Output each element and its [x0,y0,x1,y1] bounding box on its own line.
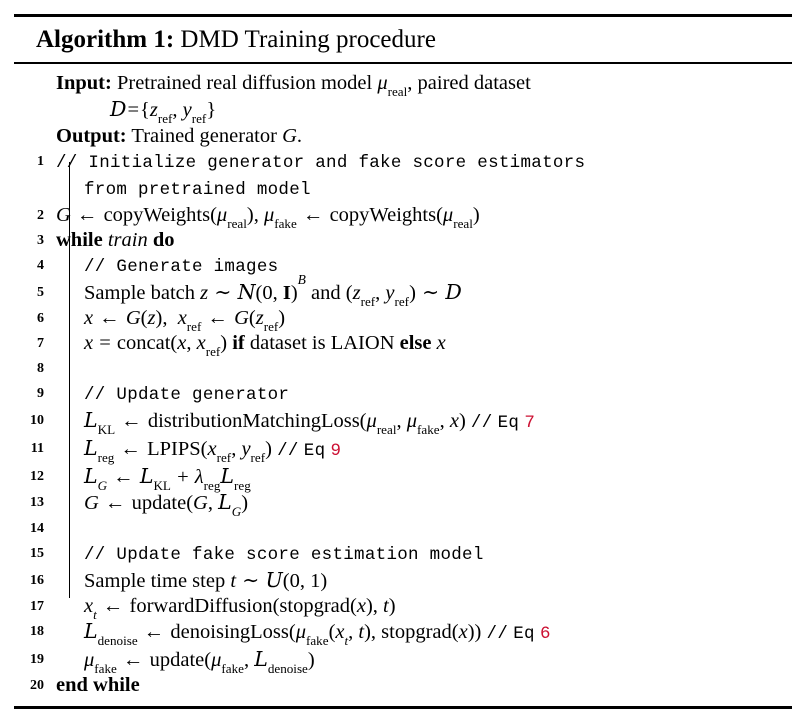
line-number: 16 [14,568,44,594]
comment-text: // Update fake score estimation model [84,545,484,565]
line-number: 14 [14,516,44,542]
eq-label: Eq [304,441,326,461]
line-content: x = concat(x, xref) if dataset is LAION … [56,331,792,356]
algorithm-body: Input: Pretrained real diffusion model μ… [14,64,792,706]
condition-text: dataset is [250,332,326,354]
comment-text: from pretrained model [84,180,311,200]
input-label: Input: [56,72,112,94]
algorithm-line-5: 5 Sample batch z ∼ N(0, I)B and (zref, y… [14,280,792,306]
eq-label: Eq [498,413,520,433]
keyword-if: if [232,332,245,354]
algorithm-line-1-continuation: from pretrained model [14,176,792,203]
line-number: 6 [14,306,44,332]
line-number: 12 [14,464,44,490]
line-content: while train do [56,228,792,253]
algorithm-line-9: 9 // Update generator [14,381,792,408]
line-number: 19 [14,647,44,673]
algorithm-line-6: 6 x ← G(z), xref ← G(zref) [14,306,792,331]
line-number: 9 [14,381,44,407]
line-content: end while [56,673,792,698]
line-number: 15 [14,541,44,567]
comment-text: // Update generator [84,385,289,405]
eq-label: Eq [513,624,535,644]
caption-title: DMD Training procedure [180,26,436,53]
equation-reference-9: 9 [331,441,342,461]
keyword-end-while: end while [56,674,140,696]
algorithm-line-1: 1 // Initialize generator and fake score… [14,149,792,176]
line-content [56,356,792,381]
line-content: LKL ← distributionMatchingLoss(μreal, μf… [56,408,792,436]
line-content: LG ← LKL + λregLreg [56,464,792,490]
line-number: 17 [14,594,44,620]
line-content: Sample batch z ∼ N(0, I)B and (zref, yre… [56,280,792,306]
algorithm-caption: Algorithm 1: DMD Training procedure [14,17,792,62]
line-number: 8 [14,356,44,382]
line-number: 2 [14,203,44,229]
line-number: 11 [14,436,44,462]
line-number: 20 [14,673,44,699]
line-content [56,516,792,541]
algorithm-line-11: 11 Lreg ← LPIPS(xref, yref) // Eq 9 [14,436,792,464]
algorithm-line-13: 13 G ← update(G, LG) [14,490,792,516]
algorithm-line-2: 2 G ← copyWeights(μreal), μfake ← copyWe… [14,203,792,228]
input-line: Input: Pretrained real diffusion model μ… [14,70,792,96]
line-content: xt ← forwardDiffusion(stopgrad(x), t) [56,594,792,619]
output-text: Trained generator G. [131,125,302,147]
output-label: Output: [56,125,127,147]
algorithm-line-7: 7 x = concat(x, xref) if dataset is LAIO… [14,331,792,356]
comment-text: // Initialize generator and fake score e… [56,153,585,173]
keyword-do: do [153,229,175,251]
equation-reference-7: 7 [524,413,535,433]
line-number: 13 [14,490,44,516]
line-content: G ← copyWeights(μreal), μfake ← copyWeig… [56,203,792,228]
algorithm-line-8: 8 [14,356,792,381]
input-text: Pretrained real diffusion model μreal, p… [117,72,531,94]
line-number: 18 [14,619,44,645]
algorithm-line-14: 14 [14,516,792,541]
algorithm-line-16: 16 Sample time step t ∼ U(0, 1) [14,568,792,594]
line-content: G ← update(G, LG) [56,490,792,516]
algorithm-line-20: 20 end while [14,673,792,698]
line-number: 5 [14,280,44,306]
algorithm-line-10: 10 LKL ← distributionMatchingLoss(μreal,… [14,408,792,436]
comment-slashes: // [487,624,509,644]
caption-prefix: Algorithm 1: [36,26,174,53]
line-number: 10 [14,408,44,434]
comment-text: // Generate images [84,257,278,277]
algorithm-line-4: 4 // Generate images [14,253,792,280]
line-number: 4 [14,253,44,279]
keyword-else: else [400,332,432,354]
algorithm-line-19: 19 μfake ← update(μfake, Ldenoise) [14,647,792,673]
loop-condition: train [108,229,148,251]
line-number: 1 [14,149,44,175]
bottom-rule [14,706,792,709]
algorithm-line-15: 15 // Update fake score estimation model [14,541,792,568]
line-content: Lreg ← LPIPS(xref, yref) // Eq 9 [56,436,792,464]
output-line: Output: Trained generator G. [14,123,792,149]
line-content: x ← G(z), xref ← G(zref) [56,306,792,331]
algorithm-line-12: 12 LG ← LKL + λregLreg [14,464,792,490]
keyword-while: while [56,229,103,251]
algorithm-line-18: 18 Ldenoise ← denoisingLoss(μfake(xt, t)… [14,619,792,647]
line-content: Ldenoise ← denoisingLoss(μfake(xt, t), s… [56,619,792,647]
equation-reference-6: 6 [540,624,551,644]
algorithm-line-3: 3 while train do [14,228,792,253]
input-line-continuation: D={zref, yref} [14,96,792,123]
line-content: μfake ← update(μfake, Ldenoise) [56,647,792,673]
algorithm-line-17: 17 xt ← forwardDiffusion(stopgrad(x), t) [14,594,792,619]
comment-slashes: // [277,441,299,461]
algorithm-box: Algorithm 1: DMD Training procedure Inpu… [14,14,792,709]
line-number: 3 [14,228,44,254]
line-number: 7 [14,331,44,357]
dataset-name: LAION [331,332,395,354]
comment-slashes: // [471,413,493,433]
line-content: Sample time step t ∼ U(0, 1) [56,568,792,594]
